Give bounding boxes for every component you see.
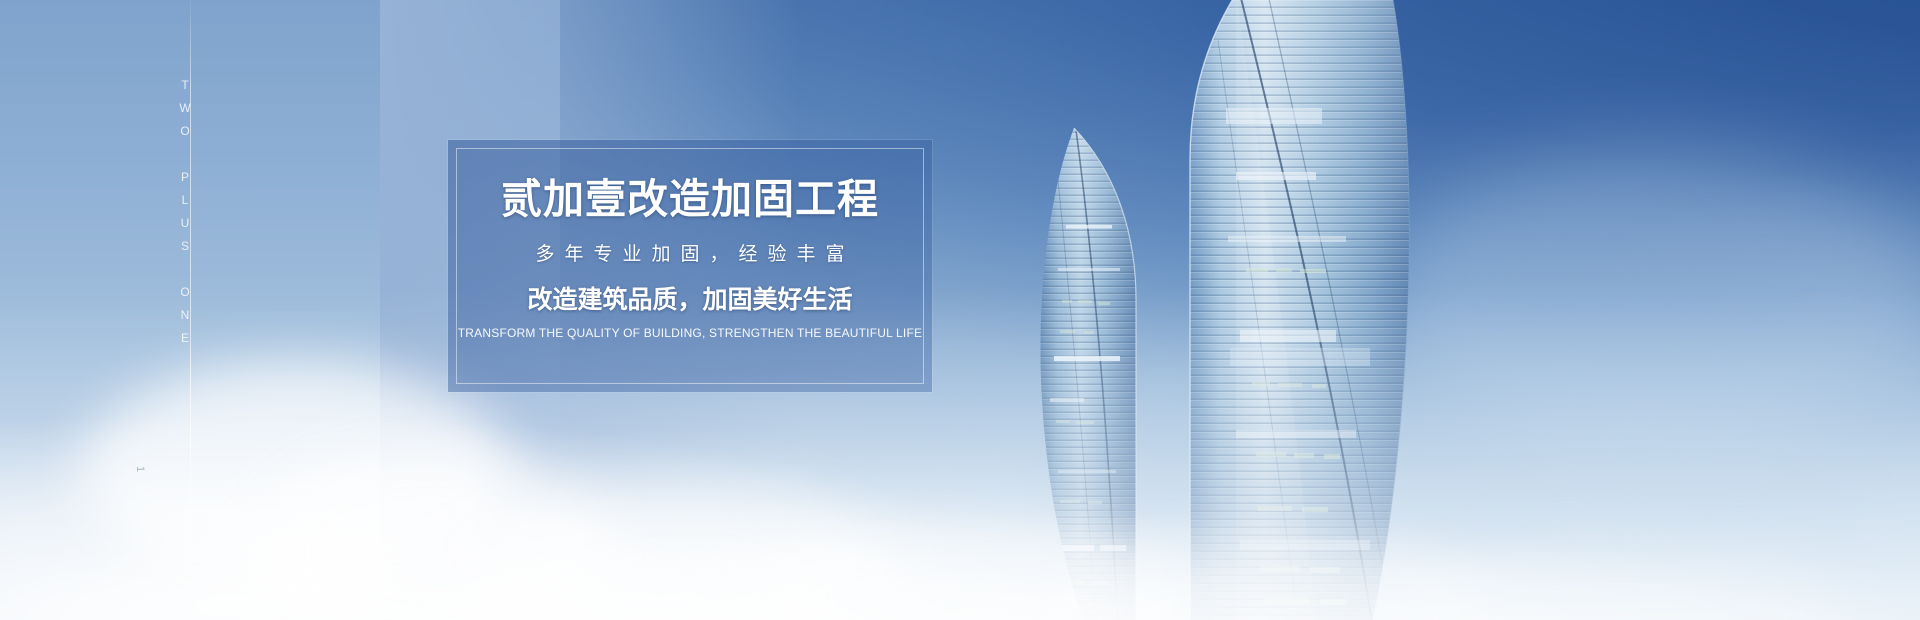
panel-english-caption: TRANSFORM THE QUALITY OF BUILDING, STREN…	[458, 327, 922, 339]
corner-mark: 1	[134, 466, 146, 473]
cloud-puff	[1380, 540, 1850, 620]
banner-stage: TWO PLUS ONE 1 贰加壹改造加固工程 多年专业加固，经验丰富 改造建…	[0, 0, 1920, 620]
panel-content: 贰加壹改造加固工程 多年专业加固，经验丰富 改造建筑品质，加固美好生活 TRAN…	[448, 140, 932, 392]
panel-tagline: 改造建筑品质，加固美好生活	[527, 288, 852, 313]
panel-headline: 贰加壹改造加固工程	[501, 179, 879, 220]
panel-subline: 多年专业加固，经验丰富	[525, 245, 854, 264]
cloud-bank	[0, 290, 1920, 620]
brand-vertical-text: TWO PLUS ONE	[178, 78, 192, 354]
headline-panel: 贰加壹改造加固工程 多年专业加固，经验丰富 改造建筑品质，加固美好生活 TRAN…	[448, 140, 932, 392]
